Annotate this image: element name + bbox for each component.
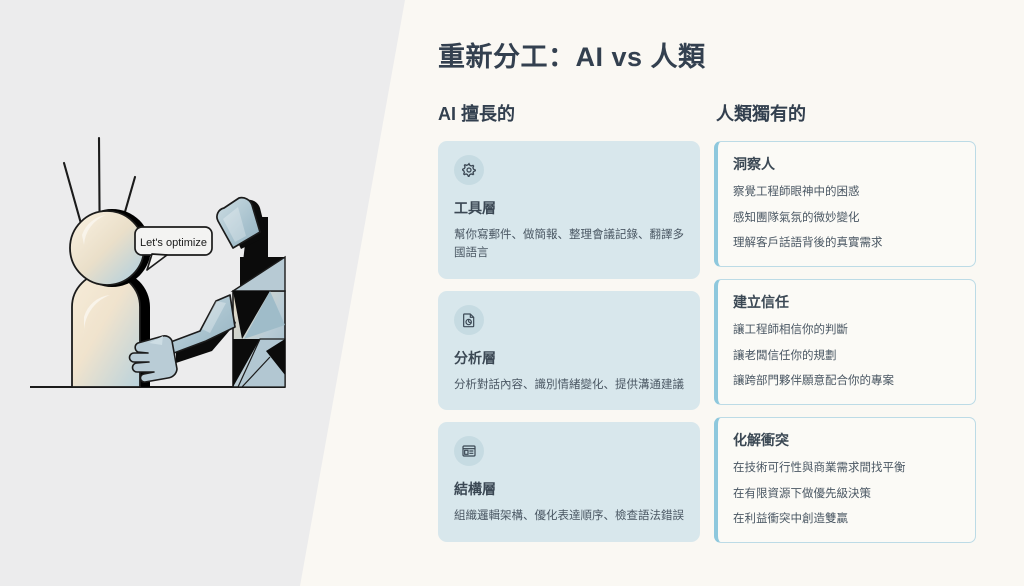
- ai-card-structure-layer[interactable]: 結構層 組織邏輯架構、優化表達順序、檢查語法錯誤: [438, 422, 700, 542]
- human-card-insight[interactable]: 洞察人 察覺工程師眼神中的困惑 感知團隊氣氛的微妙變化 理解客戶話語背後的真實需…: [714, 141, 976, 267]
- human-robot-illustration: Let's optimize: [30, 95, 350, 445]
- layout-icon: [454, 436, 484, 466]
- page-title: 重新分工：AI vs 人類: [438, 35, 706, 74]
- ai-card-title: 分析層: [454, 348, 684, 368]
- human-card-trust[interactable]: 建立信任 讓工程師相信你的判斷 讓老闆信任你的規劃 讓跨部門夥伴願意配合你的專案: [714, 279, 976, 405]
- human-card-title: 化解衝突: [733, 430, 961, 450]
- human-card-item: 讓跨部門夥伴願意配合你的專案: [733, 373, 961, 390]
- human-card-item: 在有限資源下做優先級決策: [733, 486, 961, 503]
- human-card-conflict[interactable]: 化解衝突 在技術可行性與商業需求間找平衡 在有限資源下做優先級決策 在利益衝突中…: [714, 417, 976, 543]
- ai-card-desc: 幫你寫郵件、做簡報、整理會議記錄、翻譯多國語言: [454, 227, 684, 263]
- ai-column: 工具層 幫你寫郵件、做簡報、整理會議記錄、翻譯多國語言 分析層 分析對話內容、識…: [438, 141, 700, 554]
- ai-card-desc: 組織邏輯架構、優化表達順序、檢查語法錯誤: [454, 508, 684, 526]
- human-card-item: 察覺工程師眼神中的困惑: [733, 184, 961, 201]
- human-column: 洞察人 察覺工程師眼神中的困惑 感知團隊氣氛的微妙變化 理解客戶話語背後的真實需…: [714, 141, 976, 555]
- column-heading-ai: AI 擅長的: [438, 100, 515, 126]
- ai-card-title: 工具層: [454, 198, 684, 218]
- speech-bubble-text: Let's optimize: [140, 237, 207, 249]
- gear-icon: [454, 155, 484, 185]
- left-illustration-panel: Let's optimize: [0, 0, 420, 586]
- column-heading-human: 人類獨有的: [716, 100, 806, 126]
- document-chart-icon: [454, 305, 484, 335]
- human-card-item: 感知團隊氣氛的微妙變化: [733, 210, 961, 227]
- human-card-item: 理解客戶話語背後的真實需求: [733, 235, 961, 252]
- human-card-item: 在技術可行性與商業需求間找平衡: [733, 460, 961, 477]
- slide-root: Let's optimize: [0, 0, 1024, 586]
- robot-figure: [130, 198, 286, 387]
- human-card-title: 洞察人: [733, 154, 961, 174]
- ai-card-desc: 分析對話內容、識別情緒變化、提供溝通建議: [454, 377, 684, 395]
- human-card-title: 建立信任: [733, 292, 961, 312]
- ai-card-tool-layer[interactable]: 工具層 幫你寫郵件、做簡報、整理會議記錄、翻譯多國語言: [438, 141, 700, 279]
- human-card-item: 在利益衝突中創造雙贏: [733, 511, 961, 528]
- content-area: 重新分工：AI vs 人類 AI 擅長的 人類獨有的 工具層 幫你寫郵件、做簡報…: [430, 0, 1024, 586]
- ai-card-analysis-layer[interactable]: 分析層 分析對話內容、識別情緒變化、提供溝通建議: [438, 291, 700, 411]
- human-card-item: 讓工程師相信你的判斷: [733, 322, 961, 339]
- human-card-item: 讓老闆信任你的規劃: [733, 348, 961, 365]
- ai-card-title: 結構層: [454, 479, 684, 499]
